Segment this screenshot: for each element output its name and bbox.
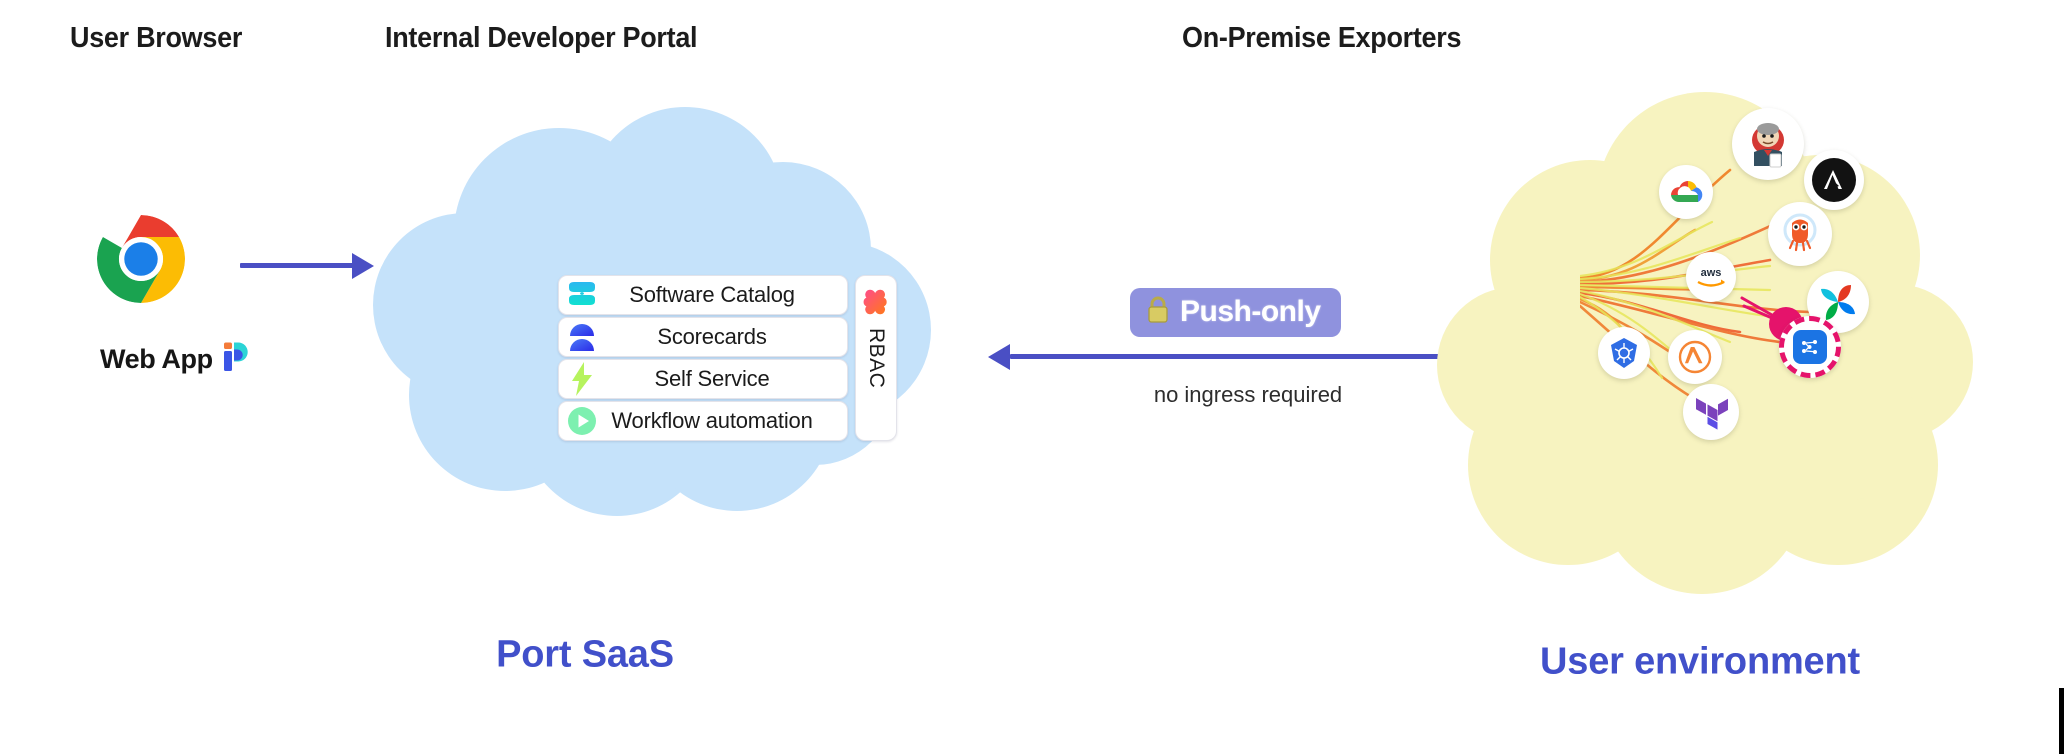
self-service-icon [565,363,599,395]
webapp-label: Web App [100,344,213,375]
workflow-automation-icon [565,405,599,437]
port-saas-caption: Port SaaS [496,634,674,677]
exporters-to-port-arrowhead [988,344,1010,370]
column-title-idp: Internal Developer Portal [385,22,697,55]
diagram-canvas: User Browser Internal Developer Portal O… [0,0,2064,754]
lock-icon [1146,296,1170,329]
feature-item-self-service[interactable]: Self Service [558,359,848,399]
rbac-clover-icon [862,288,890,321]
kubernetes-icon [1598,327,1650,379]
svg-text:aws: aws [1701,267,1722,279]
feature-item-scorecards[interactable]: Scorecards [558,317,848,357]
exporter-connector-lines [1580,130,1960,465]
aws-icon: aws [1686,252,1736,302]
gitlab-icon [1768,202,1832,266]
port-logo-icon [223,342,249,377]
feature-label: Scorecards [559,324,847,350]
chrome-icon [97,215,185,308]
feature-label: Software Catalog [559,282,847,308]
feature-item-workflow-automation[interactable]: Workflow automation [558,401,848,441]
webapp-caption: Web App [100,342,249,377]
user-environment-caption: User environment [1540,641,1860,684]
right-edge-artifact [2059,688,2064,754]
push-only-label: Push-only [1180,295,1321,329]
scorecards-icon [565,321,599,353]
feature-label: Self Service [559,366,847,392]
google-cloud-icon [1659,165,1713,219]
lambda-icon [1668,330,1722,384]
browser-to-port-arrow-line [240,263,355,268]
ansible-icon [1804,150,1864,210]
software-catalog-icon [565,279,599,311]
feature-label: Workflow automation [559,408,847,434]
column-title-user-browser: User Browser [70,22,242,55]
no-ingress-note: no ingress required [1154,382,1342,408]
push-only-badge: Push-only [1130,288,1341,337]
azure-icon [1779,316,1841,378]
column-title-exporters: On-Premise Exporters [1182,22,1461,55]
port-feature-list: Software Catalog Scorecards Self Ser [558,275,848,441]
jenkins-icon [1732,108,1804,180]
rbac-panel[interactable]: RBAC [855,275,897,441]
terraform-icon [1683,384,1739,440]
rbac-label: RBAC [864,328,888,388]
feature-item-software-catalog[interactable]: Software Catalog [558,275,848,315]
